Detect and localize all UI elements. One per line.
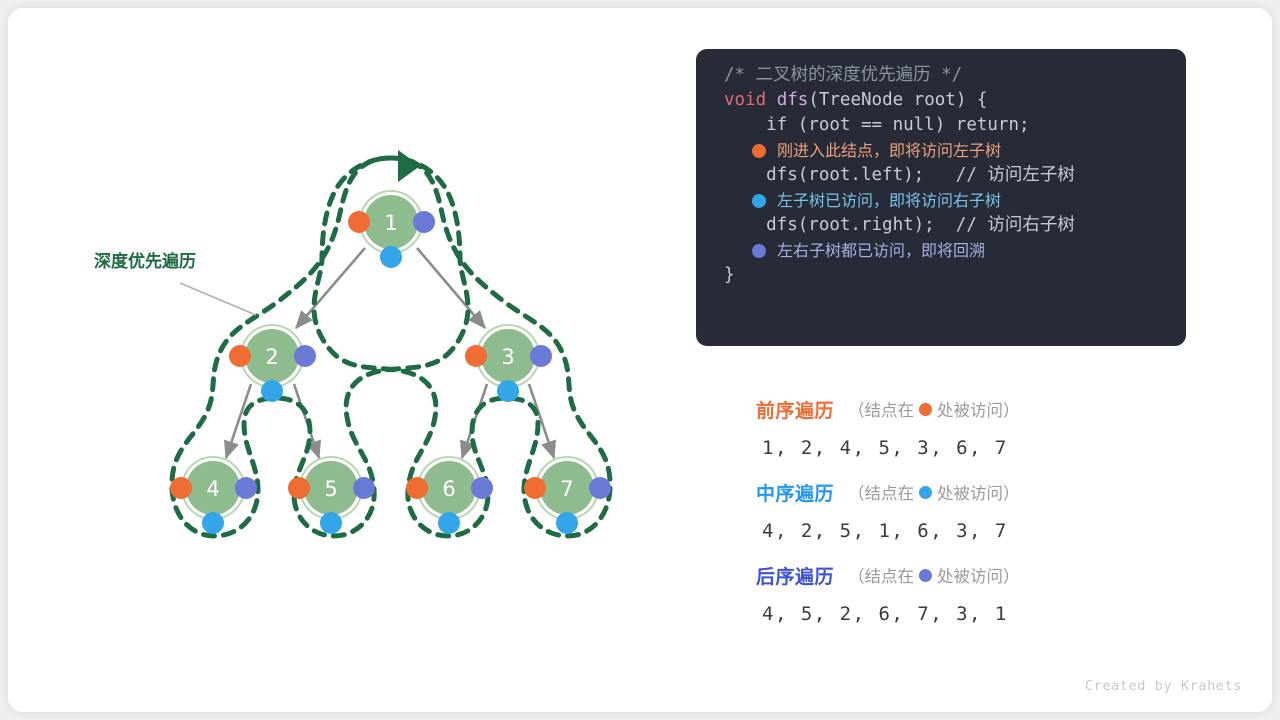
result-title: 后序遍历 bbox=[756, 562, 834, 589]
node-value: 7 bbox=[560, 477, 573, 501]
node-pre-order-dot bbox=[288, 477, 310, 499]
tree-node-3: 3 bbox=[465, 325, 552, 402]
pre-order-dot-icon bbox=[919, 403, 932, 416]
node-value: 3 bbox=[501, 345, 514, 369]
code-annotation-text: 左右子树都已访问，即将回溯 bbox=[777, 238, 985, 263]
in-order-dot-icon bbox=[752, 194, 766, 208]
node-pre-order-dot bbox=[229, 345, 251, 367]
code-signature-rest: (TreeNode root) { bbox=[808, 90, 987, 110]
result-title: 中序遍历 bbox=[756, 479, 834, 506]
result-note-prefix: （结点在 bbox=[848, 563, 914, 587]
binary-tree-diagram: 1 2 3 bbox=[8, 8, 688, 712]
node-in-order-dot bbox=[556, 512, 578, 534]
dfs-annotation-label: 深度优先遍历 bbox=[94, 251, 196, 272]
node-pre-order-dot bbox=[524, 477, 546, 499]
code-line-call-left: dfs(root.left); // 访问左子树 bbox=[724, 163, 1186, 188]
code-line-call-right: dfs(root.right); // 访问右子树 bbox=[724, 213, 1186, 238]
result-header: 后序遍历 （结点在 处被访问） bbox=[756, 559, 1186, 591]
node-pre-order-dot bbox=[348, 211, 370, 233]
result-note-prefix: （结点在 bbox=[848, 480, 914, 504]
traversal-results: 前序遍历 （结点在 处被访问） 1, 2, 4, 5, 3, 6, 7 中序遍历… bbox=[756, 393, 1186, 642]
node-in-order-dot bbox=[438, 512, 460, 534]
tree-node-2: 2 bbox=[229, 325, 316, 402]
code-annotation-text: 左子树已访问，即将访问右子树 bbox=[777, 188, 1001, 213]
node-value: 6 bbox=[442, 477, 455, 501]
code-line-signature: void dfs(TreeNode root) { bbox=[724, 88, 1186, 113]
node-post-order-dot bbox=[294, 345, 316, 367]
code-comment-text: /* 二叉树的深度优先遍历 */ bbox=[724, 65, 962, 85]
node-pre-order-dot bbox=[406, 477, 428, 499]
result-sequence: 4, 2, 5, 1, 6, 3, 7 bbox=[756, 508, 1186, 555]
edge-1-3 bbox=[417, 248, 485, 328]
node-in-order-dot bbox=[380, 246, 402, 268]
code-annotation-pre: 刚进入此结点，即将访问左子树 bbox=[724, 138, 1186, 163]
result-note-prefix: （结点在 bbox=[848, 397, 914, 421]
node-in-order-dot bbox=[320, 512, 342, 534]
result-group-preorder: 前序遍历 （结点在 处被访问） 1, 2, 4, 5, 3, 6, 7 bbox=[756, 393, 1186, 472]
node-post-order-dot bbox=[353, 477, 375, 499]
node-post-order-dot bbox=[413, 211, 435, 233]
result-header: 中序遍历 （结点在 处被访问） bbox=[756, 476, 1186, 508]
in-order-dot-icon bbox=[919, 486, 932, 499]
node-in-order-dot bbox=[261, 380, 283, 402]
tree-svg: 1 2 3 bbox=[8, 8, 688, 712]
code-keyword-void: void bbox=[724, 90, 766, 110]
tree-node-1: 1 bbox=[348, 191, 435, 268]
node-post-order-dot bbox=[589, 477, 611, 499]
code-block: /* 二叉树的深度优先遍历 */ void dfs(TreeNode root)… bbox=[696, 49, 1186, 346]
code-annotation-post: 左右子树都已访问，即将回溯 bbox=[724, 238, 1186, 263]
edge-1-2 bbox=[296, 248, 365, 328]
node-in-order-dot bbox=[202, 512, 224, 534]
post-order-dot-icon bbox=[752, 244, 766, 258]
code-line-comment: /* 二叉树的深度优先遍历 */ bbox=[724, 63, 1186, 88]
code-line-null-check: if (root == null) return; bbox=[724, 113, 1186, 138]
result-note: （结点在 处被访问） bbox=[848, 563, 1020, 587]
result-sequence: 1, 2, 4, 5, 3, 6, 7 bbox=[756, 425, 1186, 472]
result-note-suffix: 处被访问） bbox=[937, 397, 1020, 421]
node-pre-order-dot bbox=[170, 477, 192, 499]
code-annotation-in: 左子树已访问，即将访问右子树 bbox=[724, 188, 1186, 213]
dfs-label-pointer-line bbox=[180, 283, 256, 315]
node-pre-order-dot bbox=[465, 345, 487, 367]
node-post-order-dot bbox=[530, 345, 552, 367]
result-note: （结点在 处被访问） bbox=[848, 480, 1020, 504]
result-group-postorder: 后序遍历 （结点在 处被访问） 4, 5, 2, 6, 7, 3, 1 bbox=[756, 559, 1186, 638]
node-post-order-dot bbox=[471, 477, 493, 499]
node-value: 5 bbox=[324, 477, 337, 501]
post-order-dot-icon bbox=[919, 569, 932, 582]
node-value: 2 bbox=[265, 345, 278, 369]
node-value: 4 bbox=[206, 477, 219, 501]
node-value: 1 bbox=[384, 211, 397, 235]
node-post-order-dot bbox=[235, 477, 257, 499]
result-note: （结点在 处被访问） bbox=[848, 397, 1020, 421]
result-group-inorder: 中序遍历 （结点在 处被访问） 4, 2, 5, 1, 6, 3, 7 bbox=[756, 476, 1186, 555]
figure-canvas: 1 2 3 bbox=[0, 0, 1280, 720]
code-line-closing-brace: } bbox=[724, 263, 1186, 288]
credit-footer: Created by Krahets bbox=[1085, 678, 1242, 694]
result-note-suffix: 处被访问） bbox=[937, 480, 1020, 504]
result-note-suffix: 处被访问） bbox=[937, 563, 1020, 587]
result-title: 前序遍历 bbox=[756, 396, 834, 423]
node-in-order-dot bbox=[497, 380, 519, 402]
code-function-name: dfs bbox=[777, 90, 809, 110]
figure-card: 1 2 3 bbox=[8, 8, 1272, 712]
play-triangle-icon bbox=[398, 150, 420, 182]
pre-order-dot-icon bbox=[752, 144, 766, 158]
result-sequence: 4, 5, 2, 6, 7, 3, 1 bbox=[756, 591, 1186, 638]
result-header: 前序遍历 （结点在 处被访问） bbox=[756, 393, 1186, 425]
code-annotation-text: 刚进入此结点，即将访问左子树 bbox=[777, 138, 1001, 163]
